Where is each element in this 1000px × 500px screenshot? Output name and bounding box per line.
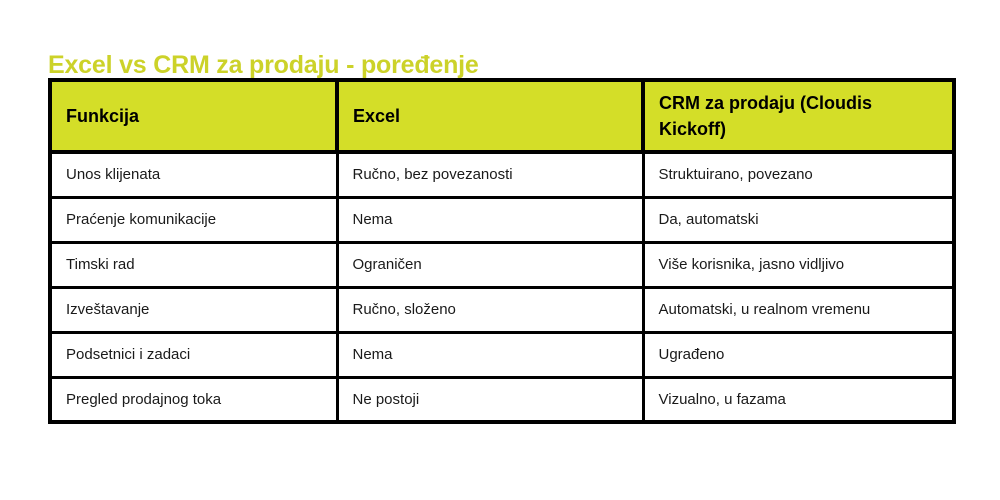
- cell-funkcija: Unos klijenata: [50, 152, 337, 197]
- column-header-funkcija: Funkcija: [50, 80, 337, 152]
- table-row: Pregled prodajnog toka Ne postoji Vizual…: [50, 377, 954, 422]
- cell-funkcija: Timski rad: [50, 242, 337, 287]
- table-row: Izveštavanje Ručno, složeno Automatski, …: [50, 287, 954, 332]
- cell-funkcija: Praćenje komunikacije: [50, 197, 337, 242]
- cell-funkcija: Pregled prodajnog toka: [50, 377, 337, 422]
- table-header-row: Funkcija Excel CRM za prodaju (Cloudis K…: [50, 80, 954, 152]
- cell-crm: Automatski, u realnom vremenu: [643, 287, 954, 332]
- table-row: Praćenje komunikacije Nema Da, automatsk…: [50, 197, 954, 242]
- table-row: Podsetnici i zadaci Nema Ugrađeno: [50, 332, 954, 377]
- table-header: Funkcija Excel CRM za prodaju (Cloudis K…: [50, 80, 954, 152]
- cell-funkcija: Podsetnici i zadaci: [50, 332, 337, 377]
- cell-crm: Ugrađeno: [643, 332, 954, 377]
- cell-funkcija: Izveštavanje: [50, 287, 337, 332]
- table-body: Unos klijenata Ručno, bez povezanosti St…: [50, 152, 954, 422]
- document-page: Excel vs CRM za prodaju - poređenje Funk…: [0, 0, 1000, 500]
- cell-crm: Da, automatski: [643, 197, 954, 242]
- table-row: Timski rad Ograničen Više korisnika, jas…: [50, 242, 954, 287]
- cell-excel: Ne postoji: [337, 377, 643, 422]
- cell-excel: Ograničen: [337, 242, 643, 287]
- cell-excel: Ručno, složeno: [337, 287, 643, 332]
- cell-crm: Vizualno, u fazama: [643, 377, 954, 422]
- cell-crm: Više korisnika, jasno vidljivo: [643, 242, 954, 287]
- cell-excel: Ručno, bez povezanosti: [337, 152, 643, 197]
- page-title: Excel vs CRM za prodaju - poređenje: [48, 50, 479, 80]
- cell-excel: Nema: [337, 197, 643, 242]
- column-header-excel: Excel: [337, 80, 643, 152]
- cell-excel: Nema: [337, 332, 643, 377]
- cell-crm: Struktuirano, povezano: [643, 152, 954, 197]
- comparison-table-container: Funkcija Excel CRM za prodaju (Cloudis K…: [48, 78, 952, 424]
- comparison-table: Funkcija Excel CRM za prodaju (Cloudis K…: [48, 78, 956, 424]
- column-header-crm: CRM za prodaju (Cloudis Kickoff): [643, 80, 954, 152]
- table-row: Unos klijenata Ručno, bez povezanosti St…: [50, 152, 954, 197]
